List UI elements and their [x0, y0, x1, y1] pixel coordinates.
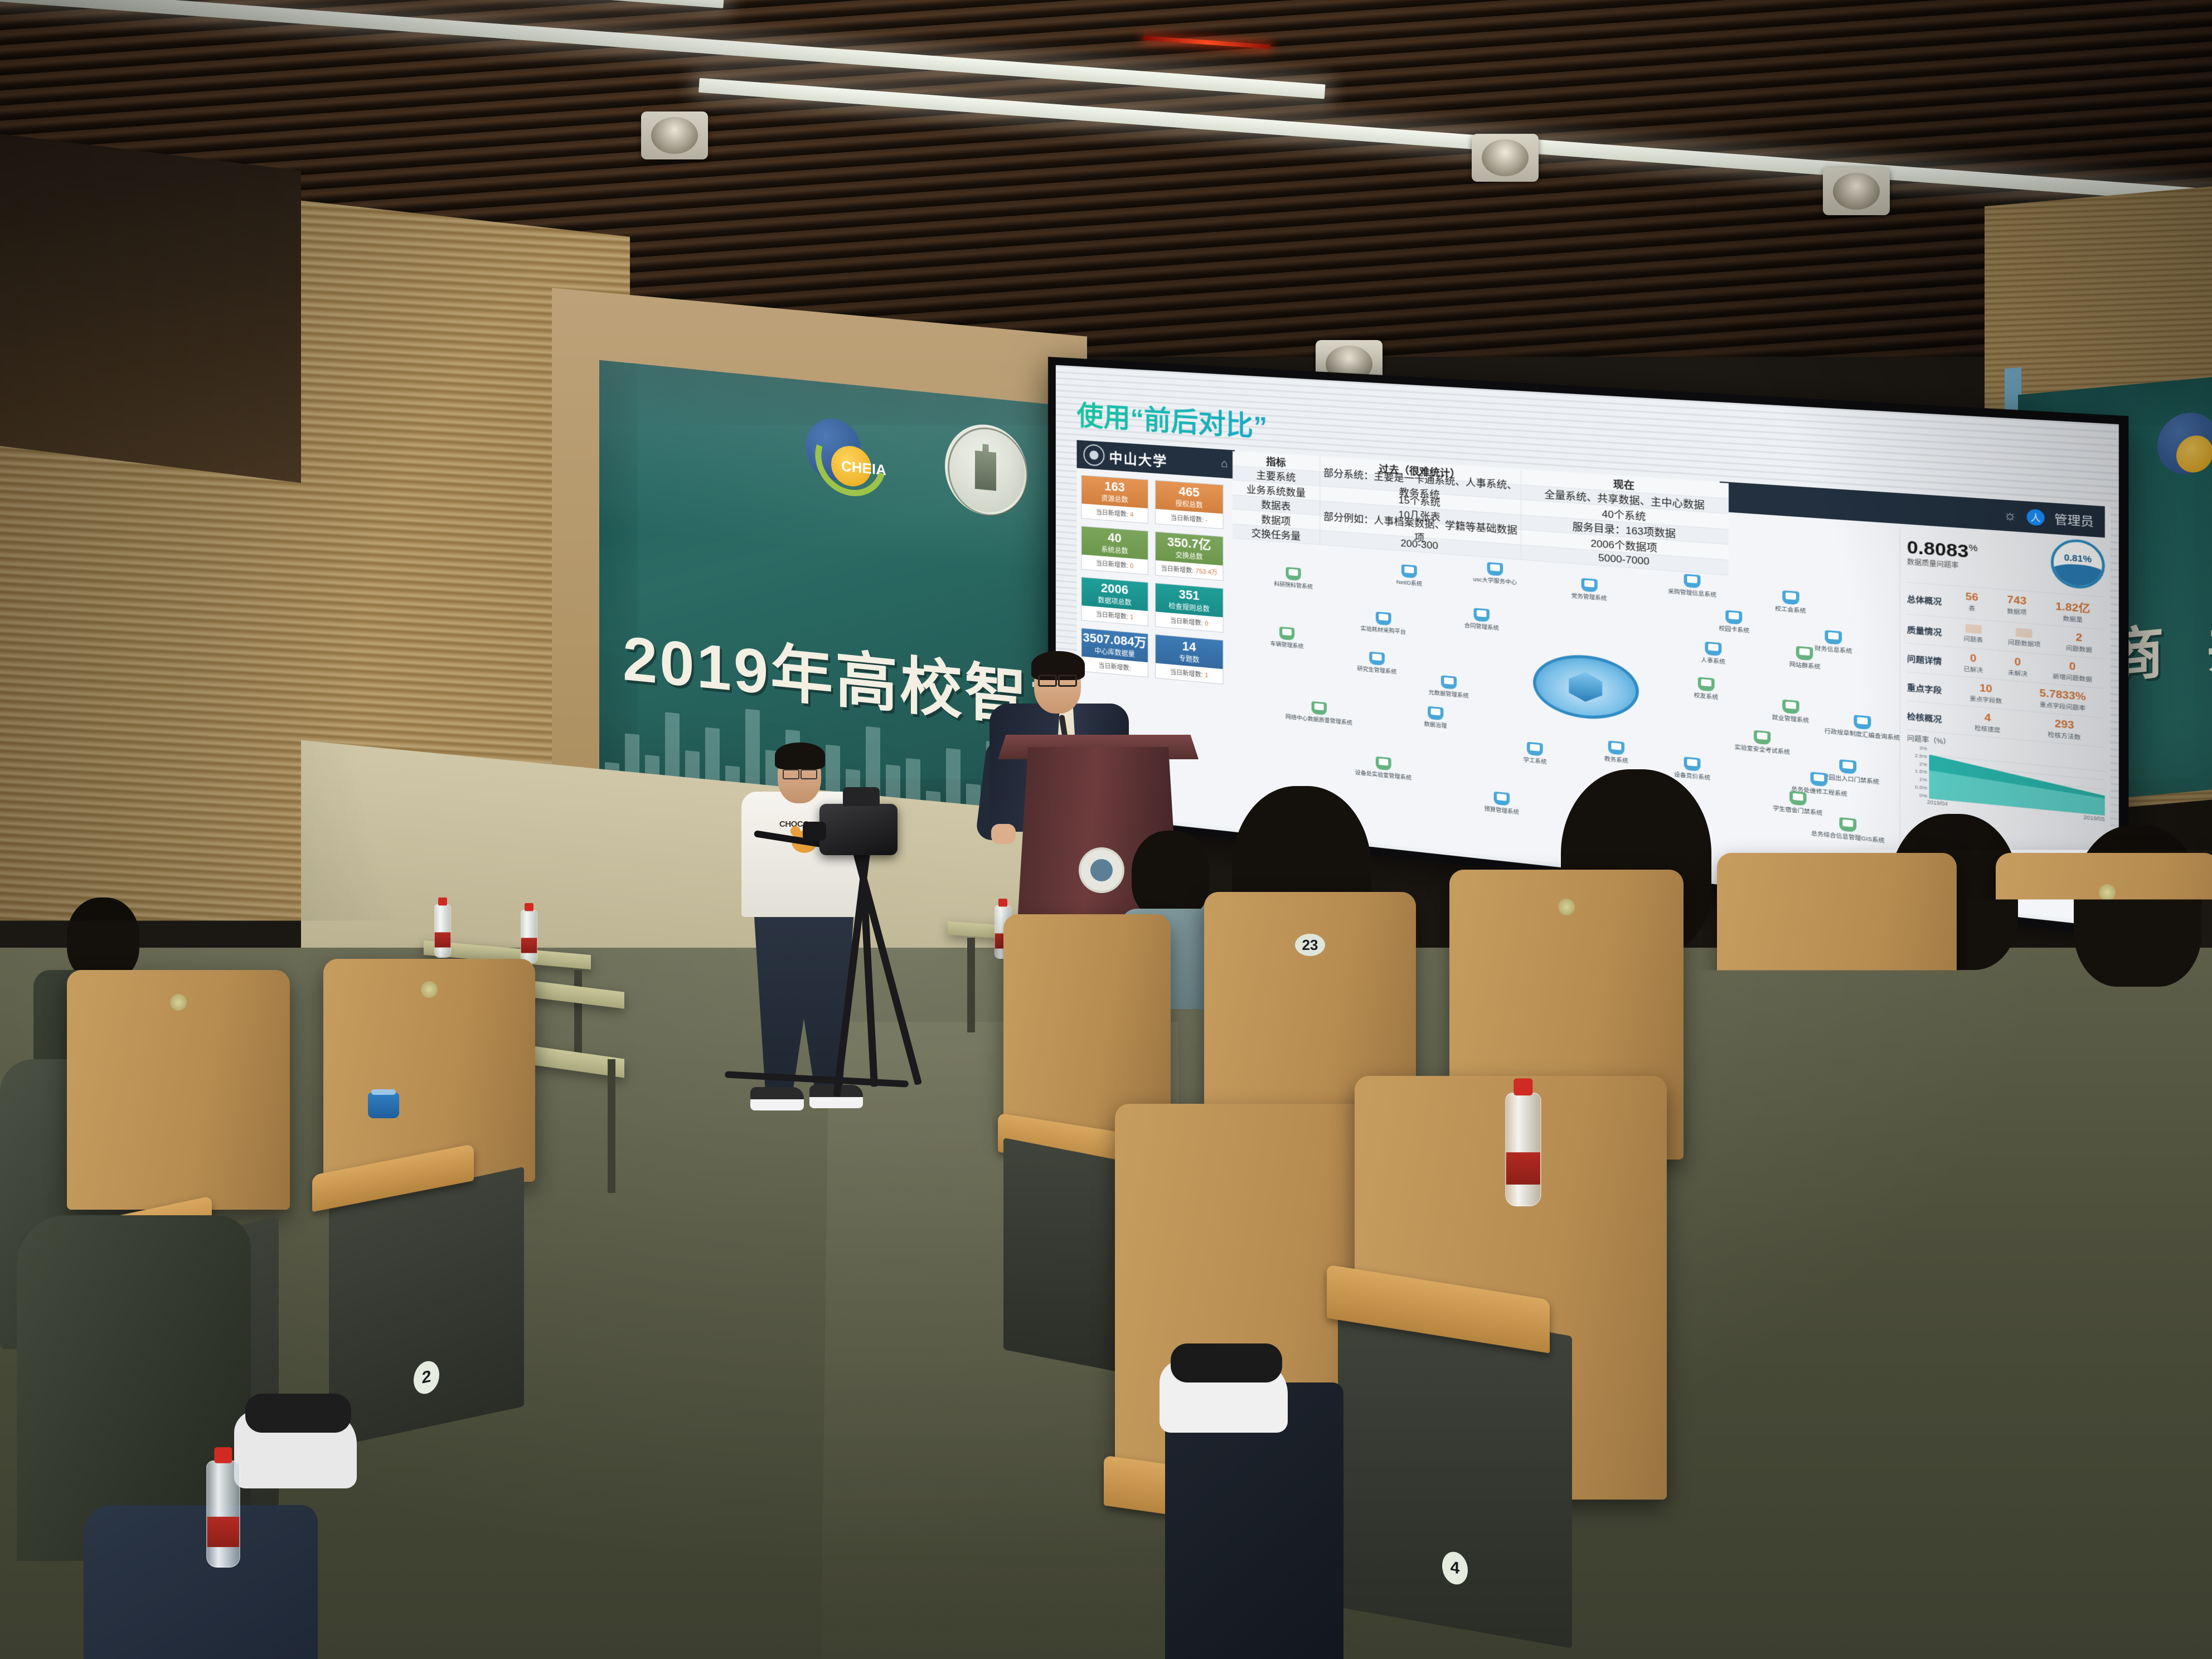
water-bottle[interactable]	[521, 910, 537, 963]
network-node: 设备处实验室管理系统	[1351, 754, 1416, 782]
network-node: 党务管理系统	[1555, 576, 1623, 603]
seat-number-badge: 23	[1295, 934, 1325, 956]
network-node: 科研院科管系统	[1262, 565, 1326, 591]
seat-number-badge: 2	[414, 1359, 439, 1396]
camera-operator-shoe	[750, 1087, 804, 1110]
water-bottle[interactable]	[434, 904, 451, 958]
network-node: 网络中心数据质量管理系统	[1287, 699, 1351, 726]
auditorium-seat[interactable]	[67, 970, 290, 1210]
network-node: 校友系统	[1671, 675, 1742, 703]
network-node: 行政规章制度汇编查询系统	[1826, 712, 1899, 741]
stat-card-grid: 163资源总数当日新增数: 4465授权总数当日新增数: -40系统总数当日新增…	[1081, 475, 1223, 692]
ceiling-downlight	[641, 111, 708, 159]
desk-leg	[608, 1059, 615, 1193]
user-label[interactable]: 管理员	[2054, 510, 2094, 530]
gauge-value: 0.81%	[2054, 552, 2102, 565]
network-node: 实验耗材采购平台	[1351, 609, 1416, 636]
dashboard-brand-name: 中山大学	[1109, 447, 1167, 470]
wall-left-dark-panel	[0, 134, 301, 483]
cheia-logo-icon: CHEIA	[806, 413, 878, 492]
drinking-cup[interactable]	[368, 1093, 399, 1118]
auditorium-seat-foreground[interactable]	[1645, 1042, 2001, 1533]
camera-viewfinder	[843, 787, 880, 806]
network-node: 采购管理信息系统	[1657, 572, 1728, 599]
speaker-glasses-icon	[1038, 675, 1077, 683]
stat-card: 163资源总数当日新增数: 4	[1081, 475, 1148, 523]
quality-gauge: 0.81%	[2051, 538, 2105, 590]
kpi-headline: 0.8083% 数据质量问题率 0.81%	[1907, 528, 2105, 590]
desk-leg	[967, 938, 975, 1032]
network-node: 学工系统	[1501, 739, 1569, 768]
seat-crest-icon	[421, 981, 438, 998]
dashboard-brand-header: 中山大学 ⌂	[1077, 440, 1235, 478]
video-camera	[819, 804, 898, 855]
network-node: usc大学服务中心	[1462, 560, 1529, 587]
network-node: 车辆管理系统	[1255, 624, 1319, 651]
conference-hall-scene: CHEIA 2019年高校智慧校园研讨会 共商 共 使用“前后对比” 中山大学 …	[0, 0, 2212, 1659]
network-node: 元数据管理系统	[1415, 673, 1482, 700]
home-icon[interactable]: ⌂	[1221, 457, 1228, 470]
network-node: 就业管理系统	[1755, 697, 1827, 726]
stat-card: 3507.084万中心库数据量当日新增数:	[1081, 628, 1148, 677]
seat-crest-icon	[2099, 884, 2116, 901]
sneaker-upper	[245, 1394, 351, 1433]
camera-operator-hair	[775, 743, 825, 769]
stat-card: 350.7亿交换总数当日新增数: 753.4万	[1155, 531, 1224, 581]
network-node: 校园卡系统	[1699, 608, 1769, 636]
kpi-rows: 总体概况56表743数据项1.82亿数据量质量情况 问题表 问题数据项2问题数据…	[1907, 582, 2105, 747]
network-node: 校工会系统	[1755, 588, 1827, 616]
water-bottle[interactable]	[206, 1461, 240, 1568]
chart-y-axis: 3%2.5%2%1.5%1%0.5%0%	[1907, 744, 1929, 799]
network-node: NetID系统	[1376, 562, 1442, 589]
network-node: 教务系统	[1582, 738, 1651, 767]
university-seal-icon	[1083, 444, 1104, 467]
stat-card: 14专题数当日新增数: 1	[1155, 634, 1224, 685]
ceiling-downlight	[1472, 134, 1539, 182]
seat-number-badge: 4	[1442, 1550, 1468, 1587]
stat-card: 351检查规则总数当日新增数: 0	[1155, 583, 1224, 632]
camera-operator-glasses-icon	[783, 769, 817, 777]
auditorium-seat[interactable]	[323, 959, 535, 1182]
kpi-headline-unit: %	[1969, 542, 1978, 554]
cheia-logo-icon-right	[2157, 410, 2212, 477]
network-node: 研究生管理系统	[1344, 649, 1409, 677]
stat-card: 465授权总数当日新增数: -	[1155, 480, 1224, 529]
network-node: 人事系统	[1678, 639, 1748, 667]
ceiling-downlight	[1823, 167, 1890, 215]
avatar[interactable]: 人	[2027, 509, 2045, 526]
network-node: 实验室安全考试系统	[1726, 727, 1798, 756]
network-node: 总务综合信息管理GIS系统	[1812, 814, 1884, 845]
network-node: 预算管理系统	[1468, 789, 1536, 817]
stat-card: 40系统总数当日新增数: 0	[1081, 526, 1148, 575]
water-bottle[interactable]	[1505, 1093, 1541, 1206]
seat-crest-icon	[1558, 899, 1575, 915]
stat-card: 2006数据项总数当日新增数: 1	[1081, 577, 1148, 627]
bell-icon[interactable]: ☼	[2004, 507, 2017, 525]
network-node: 合同管理系统	[1448, 606, 1515, 633]
sneaker-upper	[1171, 1343, 1282, 1382]
seat-side-panel[interactable]: 2	[329, 1167, 524, 1448]
speaker-left-hand	[991, 824, 1016, 844]
podium-university-emblem-icon	[1079, 847, 1124, 893]
bag-on-seat	[2018, 1327, 2208, 1594]
network-hub-icon	[1533, 651, 1639, 724]
network-node: 数据治理	[1403, 704, 1469, 732]
seat-crest-icon	[170, 994, 187, 1011]
